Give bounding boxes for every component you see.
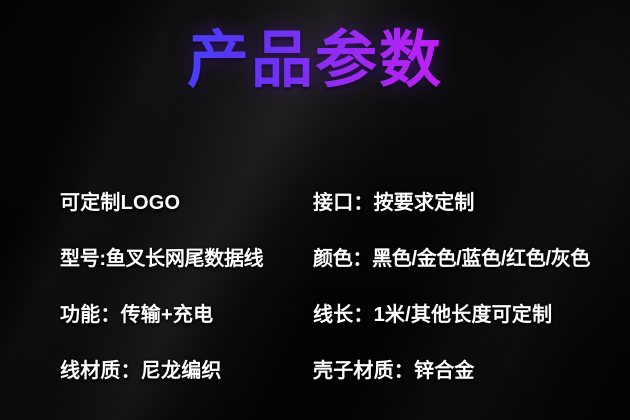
spec-text: 可定制LOGO [60, 186, 180, 215]
spec-text: 壳子材质：锌合金 [313, 354, 475, 383]
spec-item-connector: 接口：按要求定制 [313, 172, 475, 228]
spec-text: 功能：传输+充电 [60, 298, 213, 327]
spec-text: 线材质：尼龙编织 [60, 354, 222, 383]
spec-text: 颜色：黑色/金色/蓝色/红色/灰色 [313, 242, 590, 271]
spec-text: 线长：1米/其他长度可定制 [313, 298, 552, 327]
spec-item-color: 颜色：黑色/金色/蓝色/红色/灰色 [313, 228, 590, 284]
spec-text: 型号:鱼叉长网尾数据线 [60, 242, 263, 271]
page-title: 产品参数 [0, 22, 630, 100]
spec-item-model: 型号:鱼叉长网尾数据线 [60, 228, 263, 284]
product-spec-poster: 产品参数 可定制LOGO 型号:鱼叉长网尾数据线 功能：传输+充电 线材质：尼龙… [0, 0, 630, 420]
spec-item-cable-material: 线材质：尼龙编织 [60, 340, 222, 396]
spec-item-shell-material: 壳子材质：锌合金 [313, 340, 475, 396]
spec-list: 可定制LOGO 型号:鱼叉长网尾数据线 功能：传输+充电 线材质：尼龙编织 接口… [0, 172, 630, 398]
spec-item-function: 功能：传输+充电 [60, 284, 213, 340]
spec-item-custom-logo: 可定制LOGO [60, 172, 180, 228]
spec-item-cable-length: 线长：1米/其他长度可定制 [313, 284, 552, 340]
spec-text: 接口：按要求定制 [313, 186, 475, 215]
